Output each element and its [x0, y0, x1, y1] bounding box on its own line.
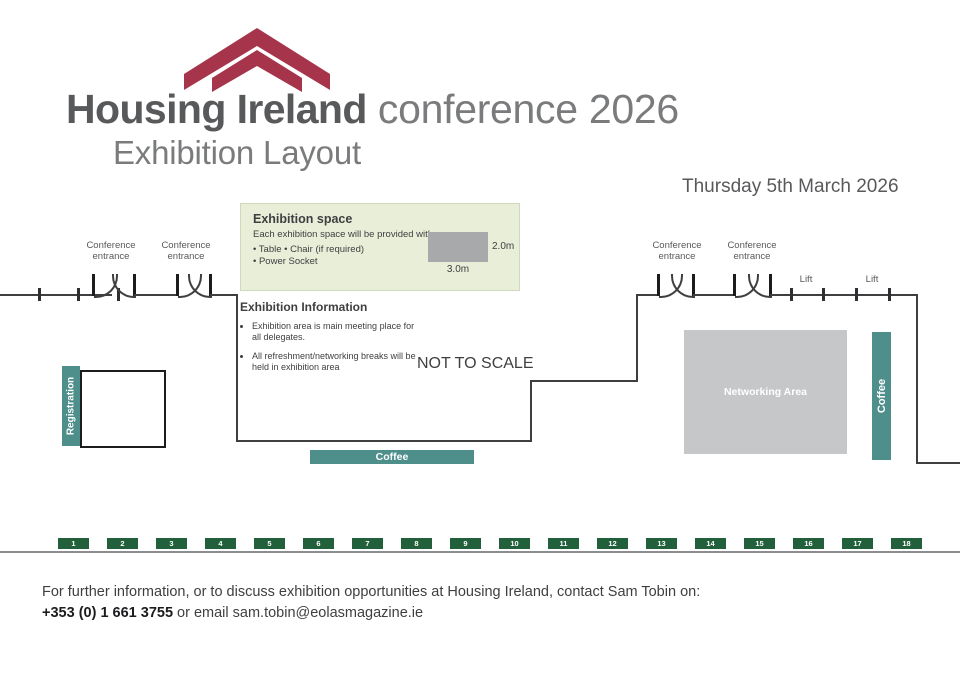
stand-width-dimension: 3.0m — [428, 264, 488, 275]
booth-number: 17 — [853, 540, 861, 548]
booth-number: 14 — [706, 540, 714, 548]
booth-6[interactable]: 6 — [303, 538, 334, 549]
booth-9[interactable]: 9 — [450, 538, 481, 549]
contact-email-text: or email sam.tobin@eolasmagazine.ie — [173, 605, 423, 621]
booth-1[interactable]: 1 — [58, 538, 89, 549]
entrance-label: Conference entrance — [68, 240, 154, 262]
stand-size-swatch — [428, 232, 488, 262]
booth-2[interactable]: 2 — [107, 538, 138, 549]
booth-number: 2 — [120, 540, 124, 548]
booth-3[interactable]: 3 — [156, 538, 187, 549]
door-jamb — [692, 274, 695, 296]
list-item: All refreshment/networking breaks will b… — [252, 351, 422, 373]
wall-tick — [888, 288, 891, 301]
exhibition-space-title: Exhibition space — [253, 212, 507, 226]
event-date: Thursday 5th March 2026 — [682, 176, 899, 198]
coffee-station-horizontal: Coffee — [310, 450, 474, 464]
booth-14[interactable]: 14 — [695, 538, 726, 549]
door-jamb — [769, 274, 772, 296]
booth-number: 8 — [414, 540, 418, 548]
page-subtitle: Exhibition Layout — [113, 134, 361, 172]
exhibition-layout-poster: Housing Ireland conference 2026 Exhibiti… — [0, 0, 960, 678]
booth-8[interactable]: 8 — [401, 538, 432, 549]
footer-line-2: +353 (0) 1 661 3755 or email sam.tobin@e… — [42, 603, 922, 624]
brand-name-bold: Housing Ireland — [66, 86, 367, 132]
lift-label: Lift — [852, 274, 892, 285]
booth-number: 12 — [608, 540, 616, 548]
networking-area: Networking Area — [684, 330, 847, 454]
booth-number: 18 — [902, 540, 910, 548]
wall-tick — [790, 288, 793, 301]
booth-number: 16 — [804, 540, 812, 548]
booth-number: 11 — [560, 540, 568, 548]
registration-room — [80, 370, 166, 448]
wall-top-right — [693, 294, 733, 296]
wall-tick — [822, 288, 825, 301]
booth-number: 1 — [71, 540, 75, 548]
booth-number: 3 — [169, 540, 173, 548]
booth-number: 5 — [267, 540, 271, 548]
wall-top-right — [636, 294, 658, 296]
wall-tick — [38, 288, 41, 301]
wall-bottom-right — [916, 462, 960, 464]
networking-area-label: Networking Area — [724, 386, 807, 398]
wall-tick — [77, 288, 80, 301]
booth-number: 7 — [365, 540, 369, 548]
wall-right-enclosure — [916, 294, 918, 464]
booth-4[interactable]: 4 — [205, 538, 236, 549]
coffee-label: Coffee — [376, 451, 409, 463]
booth-12[interactable]: 12 — [597, 538, 628, 549]
booth-number: 6 — [316, 540, 320, 548]
booth-7[interactable]: 7 — [352, 538, 383, 549]
booth-number: 10 — [510, 540, 518, 548]
entrance-label: Conference entrance — [634, 240, 720, 262]
stand-depth-dimension: 2.0m — [492, 241, 514, 252]
coffee-station-vertical: Coffee — [872, 332, 891, 460]
not-to-scale-note: NOT TO SCALE — [417, 355, 533, 373]
contact-footer: For further information, or to discuss e… — [42, 582, 922, 624]
door-jamb — [209, 274, 212, 296]
door-jamb — [133, 274, 136, 296]
registration-label: Registration — [66, 377, 77, 435]
wall-tick — [855, 288, 858, 301]
page-title: Housing Ireland conference 2026 — [66, 86, 679, 133]
booth-18[interactable]: 18 — [891, 538, 922, 549]
wall-bottom-boundary — [0, 551, 960, 553]
entrance-label: Conference entrance — [709, 240, 795, 262]
brand-name-light: conference 2026 — [367, 86, 679, 132]
wall-bottom-left — [236, 440, 532, 442]
booth-number: 9 — [463, 540, 467, 548]
booth-number: 4 — [218, 540, 222, 548]
wall-step-horizontal — [530, 380, 638, 382]
contact-phone: +353 (0) 1 661 3755 — [42, 605, 173, 621]
entrance-label: Conference entrance — [143, 240, 229, 262]
wall-step-vertical — [636, 294, 638, 382]
booth-16[interactable]: 16 — [793, 538, 824, 549]
booth-10[interactable]: 10 — [499, 538, 530, 549]
list-item: Exhibition area is main meeting place fo… — [252, 321, 422, 343]
booth-13[interactable]: 13 — [646, 538, 677, 549]
booth-number: 13 — [657, 540, 665, 548]
exhibition-information-title: Exhibition Information — [240, 300, 530, 314]
footer-line-1: For further information, or to discuss e… — [42, 582, 922, 603]
wall-top-left — [210, 294, 238, 296]
booth-17[interactable]: 17 — [842, 538, 873, 549]
booth-5[interactable]: 5 — [254, 538, 285, 549]
lift-label: Lift — [786, 274, 826, 285]
chevron-roof-logo-icon — [182, 24, 332, 94]
wall-top-left — [134, 294, 176, 296]
coffee-label: Coffee — [876, 379, 888, 413]
wall-step-vertical — [530, 380, 532, 442]
booth-number: 15 — [755, 540, 763, 548]
booth-15[interactable]: 15 — [744, 538, 775, 549]
registration-bar: Registration — [62, 366, 80, 446]
wall-left-enclosure — [236, 294, 238, 442]
booth-11[interactable]: 11 — [548, 538, 579, 549]
